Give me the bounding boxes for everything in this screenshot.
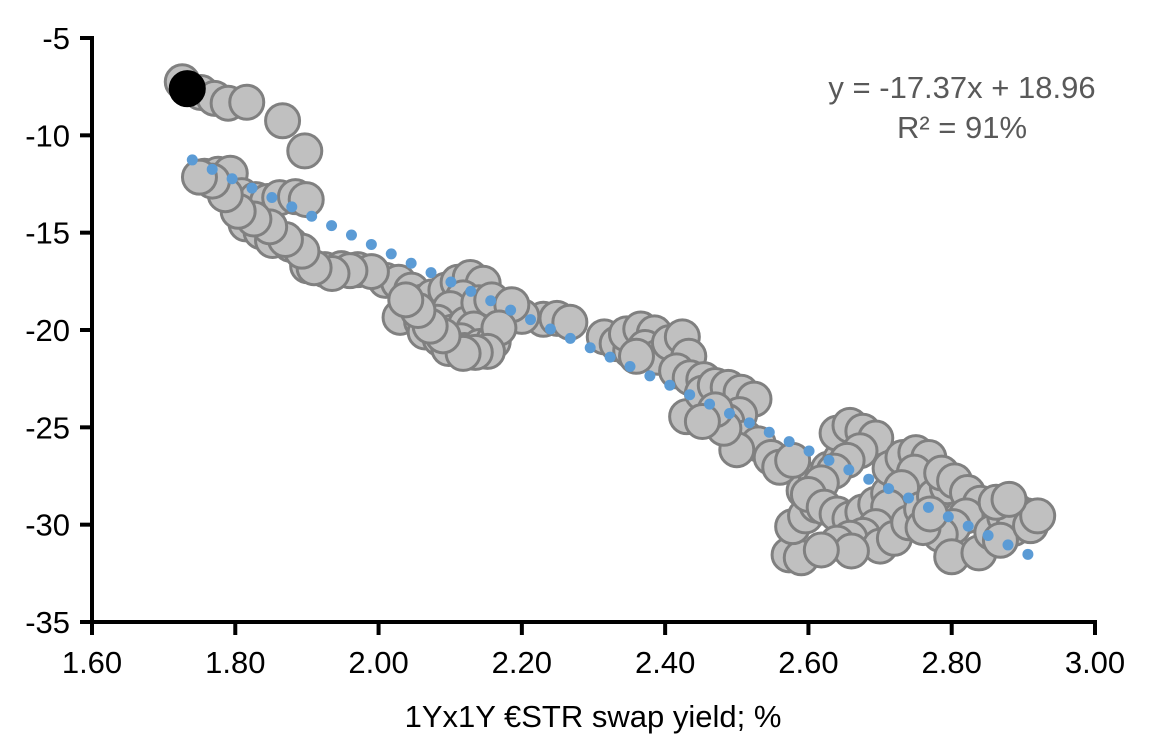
trendline-dot (605, 352, 616, 363)
x-tick-label-0: 1.60 (62, 645, 122, 680)
x-tick-label-3: 2.20 (492, 645, 552, 680)
scatter-chart: -5-10-15-20-25-30-35 1.601.802.002.202.4… (0, 0, 1152, 745)
trendline-dot (485, 295, 496, 306)
trendline-dot (823, 455, 834, 466)
x-axis-title: 1Yx1Y €STR swap yield; % (405, 699, 782, 734)
x-tick-label-5: 2.60 (778, 645, 838, 680)
y-tick-label-2: -15 (25, 216, 70, 251)
trendline-dot (227, 173, 238, 184)
trendline-dot (963, 521, 974, 532)
data-point (230, 85, 264, 119)
trendline-dot (187, 154, 198, 165)
trendline-dot (426, 267, 437, 278)
trendline-dot (804, 446, 815, 457)
y-tick-label-1: -10 (25, 118, 70, 153)
data-point (619, 339, 653, 373)
trendline-dot (565, 333, 576, 344)
x-axis-tick-labels: 1.601.802.002.202.402.602.803.00 (62, 645, 1125, 680)
trendline-dot (286, 201, 297, 212)
trendline-dot (744, 417, 755, 428)
trendline-dot (624, 361, 635, 372)
trendline-dot (784, 436, 795, 447)
x-tick-label-1: 1.80 (205, 645, 265, 680)
y-tick-label-5: -30 (25, 508, 70, 543)
trendline-dot (843, 464, 854, 475)
trendline-dot (366, 239, 377, 250)
trendline-dot (406, 258, 417, 269)
trendline-dot (266, 192, 277, 203)
trendline-dot (346, 230, 357, 241)
trendline-dot (863, 474, 874, 485)
trendline-dot (664, 380, 675, 391)
trendline-dot (764, 427, 775, 438)
trendline-dot (644, 370, 655, 381)
trendline-dot (545, 323, 556, 334)
chart-canvas: -5-10-15-20-25-30-35 1.601.802.002.202.4… (0, 0, 1152, 745)
data-point (913, 497, 947, 531)
trendline-dot (923, 502, 934, 513)
x-tick-label-2: 2.00 (348, 645, 408, 680)
trendline-dot (704, 399, 715, 410)
highlighted-data-point (170, 72, 204, 106)
y-tick-label-6: -35 (25, 605, 70, 640)
trendline-dot (724, 408, 735, 419)
trendline-dot (465, 286, 476, 297)
y-tick-label-4: -25 (25, 410, 70, 445)
trendline-dot (684, 389, 695, 400)
trendline-dot (525, 314, 536, 325)
trendline-dot (326, 220, 337, 231)
trendline-dot (306, 211, 317, 222)
trendline-r-squared-label: R² = 91% (897, 110, 1027, 145)
x-tick-label-6: 2.80 (922, 645, 982, 680)
data-point (992, 482, 1026, 516)
y-tick-label-0: -5 (42, 21, 70, 56)
trendline-dot (246, 183, 257, 194)
trendline-dot (943, 511, 954, 522)
data-point (288, 134, 322, 168)
y-axis-tick-labels: -5-10-15-20-25-30-35 (25, 21, 70, 640)
data-point (389, 283, 423, 317)
highlighted-point-group (170, 72, 204, 106)
y-tick-label-3: -20 (25, 313, 70, 348)
trendline-dot (445, 277, 456, 288)
trendline-dot (883, 483, 894, 494)
trendline-dot (386, 248, 397, 259)
data-point (685, 404, 719, 438)
x-tick-label-7: 3.00 (1065, 645, 1125, 680)
trendline-dot (585, 342, 596, 353)
trendline-dot (207, 164, 218, 175)
trendline-dot (903, 492, 914, 503)
trendline-equation-label: y = -17.37x + 18.96 (828, 70, 1095, 105)
x-tick-label-4: 2.40 (635, 645, 695, 680)
trendline-dot (1003, 539, 1014, 550)
data-point (804, 533, 838, 567)
data-point (266, 104, 300, 138)
trendline-dot (505, 305, 516, 316)
trendline-dot (1022, 549, 1033, 560)
trendline-dot (983, 530, 994, 541)
